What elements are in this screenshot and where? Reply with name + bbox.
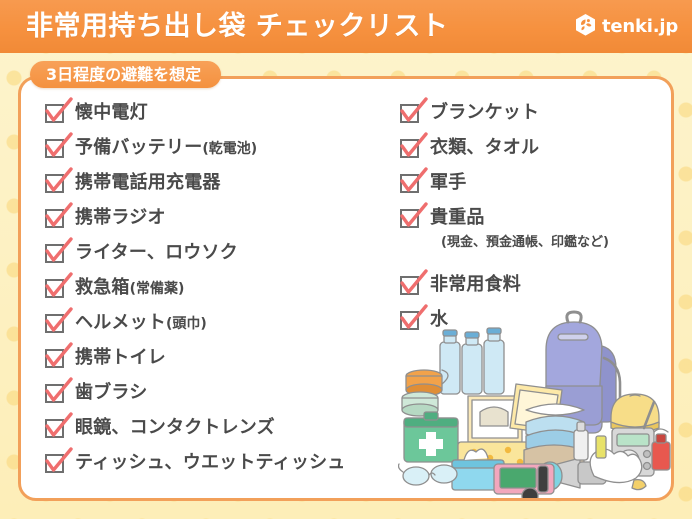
list-item[interactable]: ブランケット bbox=[400, 101, 650, 136]
subtitle-badge: 3日程度の避難を想定 bbox=[30, 61, 221, 88]
page-title: 非常用持ち出し袋 チェックリスト bbox=[26, 13, 448, 40]
helmet bbox=[611, 394, 659, 433]
hexagon-leaf-icon bbox=[575, 13, 596, 40]
checkbox-checked-icon[interactable] bbox=[400, 139, 419, 158]
first-aid-kit bbox=[404, 412, 458, 462]
checkbox-checked-icon[interactable] bbox=[45, 349, 64, 368]
checkbox-checked-icon[interactable] bbox=[45, 314, 64, 333]
eyeglasses bbox=[399, 464, 458, 485]
list-item-label: 眼鏡、コンタクトレンズ bbox=[75, 416, 275, 439]
list-item-label: 軍手 bbox=[430, 171, 466, 194]
list-item-label: 携帯トイレ bbox=[75, 346, 166, 369]
checkbox-checked-icon[interactable] bbox=[45, 384, 64, 403]
list-item[interactable]: 眼鏡、コンタクトレンズ bbox=[45, 416, 375, 451]
checkbox-checked-icon[interactable] bbox=[45, 454, 64, 473]
list-item-label: ライター、ロウソク bbox=[75, 241, 238, 264]
list-item-label: 非常用食料 bbox=[430, 273, 521, 296]
list-item[interactable]: 懐中電灯 bbox=[45, 101, 375, 136]
list-item[interactable]: 軍手 bbox=[400, 171, 650, 206]
checkbox-checked-icon[interactable] bbox=[400, 311, 419, 330]
list-item[interactable]: 歯ブラシ bbox=[45, 381, 375, 416]
list-item-label: 携帯電話用充電器 bbox=[75, 171, 221, 194]
subtitle-badge-label: 3日程度の避難を想定 bbox=[46, 67, 201, 83]
infographic-page: 非常用持ち出し袋 チェックリスト tenki.jp 3日程度の避難を想定 bbox=[0, 0, 692, 519]
list-item-label: 救急箱(常備薬) bbox=[75, 276, 184, 301]
list-item[interactable]: 予備バッテリー(乾電池) bbox=[45, 136, 375, 171]
list-item-label: 水 bbox=[430, 308, 448, 331]
column-spacer bbox=[400, 251, 650, 273]
checklist-left-column: 懐中電灯 予備バッテリー(乾電池) 携帯電話用充電器 bbox=[45, 101, 375, 486]
list-item[interactable]: 救急箱(常備薬) bbox=[45, 276, 375, 311]
list-item-label: 貴重品 bbox=[430, 206, 485, 229]
fire-extinguisher bbox=[652, 429, 670, 470]
list-item-label: 懐中電灯 bbox=[75, 101, 148, 124]
list-item-note: (現金、預金通帳、印鑑など) bbox=[441, 235, 650, 251]
checkbox-checked-icon[interactable] bbox=[400, 174, 419, 193]
header-bar: 非常用持ち出し袋 チェックリスト tenki.jp bbox=[0, 0, 692, 53]
list-item-label: 携帯ラジオ bbox=[75, 206, 166, 229]
checkbox-checked-icon[interactable] bbox=[45, 209, 64, 228]
checkbox-checked-icon[interactable] bbox=[45, 419, 64, 438]
list-item[interactable]: ライター、ロウソク bbox=[45, 241, 375, 276]
checkbox-checked-icon[interactable] bbox=[400, 104, 419, 123]
checkbox-checked-icon[interactable] bbox=[45, 244, 64, 263]
emergency-phone bbox=[494, 464, 554, 498]
checkbox-checked-icon[interactable] bbox=[45, 139, 64, 158]
brand-name: tenki.jp bbox=[602, 18, 678, 36]
list-item-label: ヘルメット(頭巾) bbox=[75, 311, 207, 336]
list-item[interactable]: 非常用食料 bbox=[400, 273, 650, 308]
checkbox-checked-icon[interactable] bbox=[400, 209, 419, 228]
list-item-label: ティッシュ、ウエットティッシュ bbox=[75, 451, 345, 474]
list-item[interactable]: 水 bbox=[400, 308, 650, 343]
list-item-label: 衣類、タオル bbox=[430, 136, 539, 159]
checkbox-checked-icon[interactable] bbox=[45, 104, 64, 123]
list-item[interactable]: 携帯電話用充電器 bbox=[45, 171, 375, 206]
list-item-label: 歯ブラシ bbox=[75, 381, 147, 404]
checkbox-checked-icon[interactable] bbox=[400, 276, 419, 295]
list-item-label: 予備バッテリー(乾電池) bbox=[75, 136, 257, 161]
checklist-right-column: ブランケット 衣類、タオル 軍手 bbox=[400, 101, 650, 343]
list-item[interactable]: 衣類、タオル bbox=[400, 136, 650, 171]
checkbox-checked-icon[interactable] bbox=[45, 279, 64, 298]
brand-logo: tenki.jp bbox=[575, 13, 678, 40]
list-item[interactable]: ティッシュ、ウエットティッシュ bbox=[45, 451, 375, 486]
list-item-label: ブランケット bbox=[430, 101, 539, 124]
list-item[interactable]: ヘルメット(頭巾) bbox=[45, 311, 375, 346]
list-item[interactable]: 携帯ラジオ bbox=[45, 206, 375, 241]
list-item[interactable]: 携帯トイレ bbox=[45, 346, 375, 381]
checkbox-checked-icon[interactable] bbox=[45, 174, 64, 193]
